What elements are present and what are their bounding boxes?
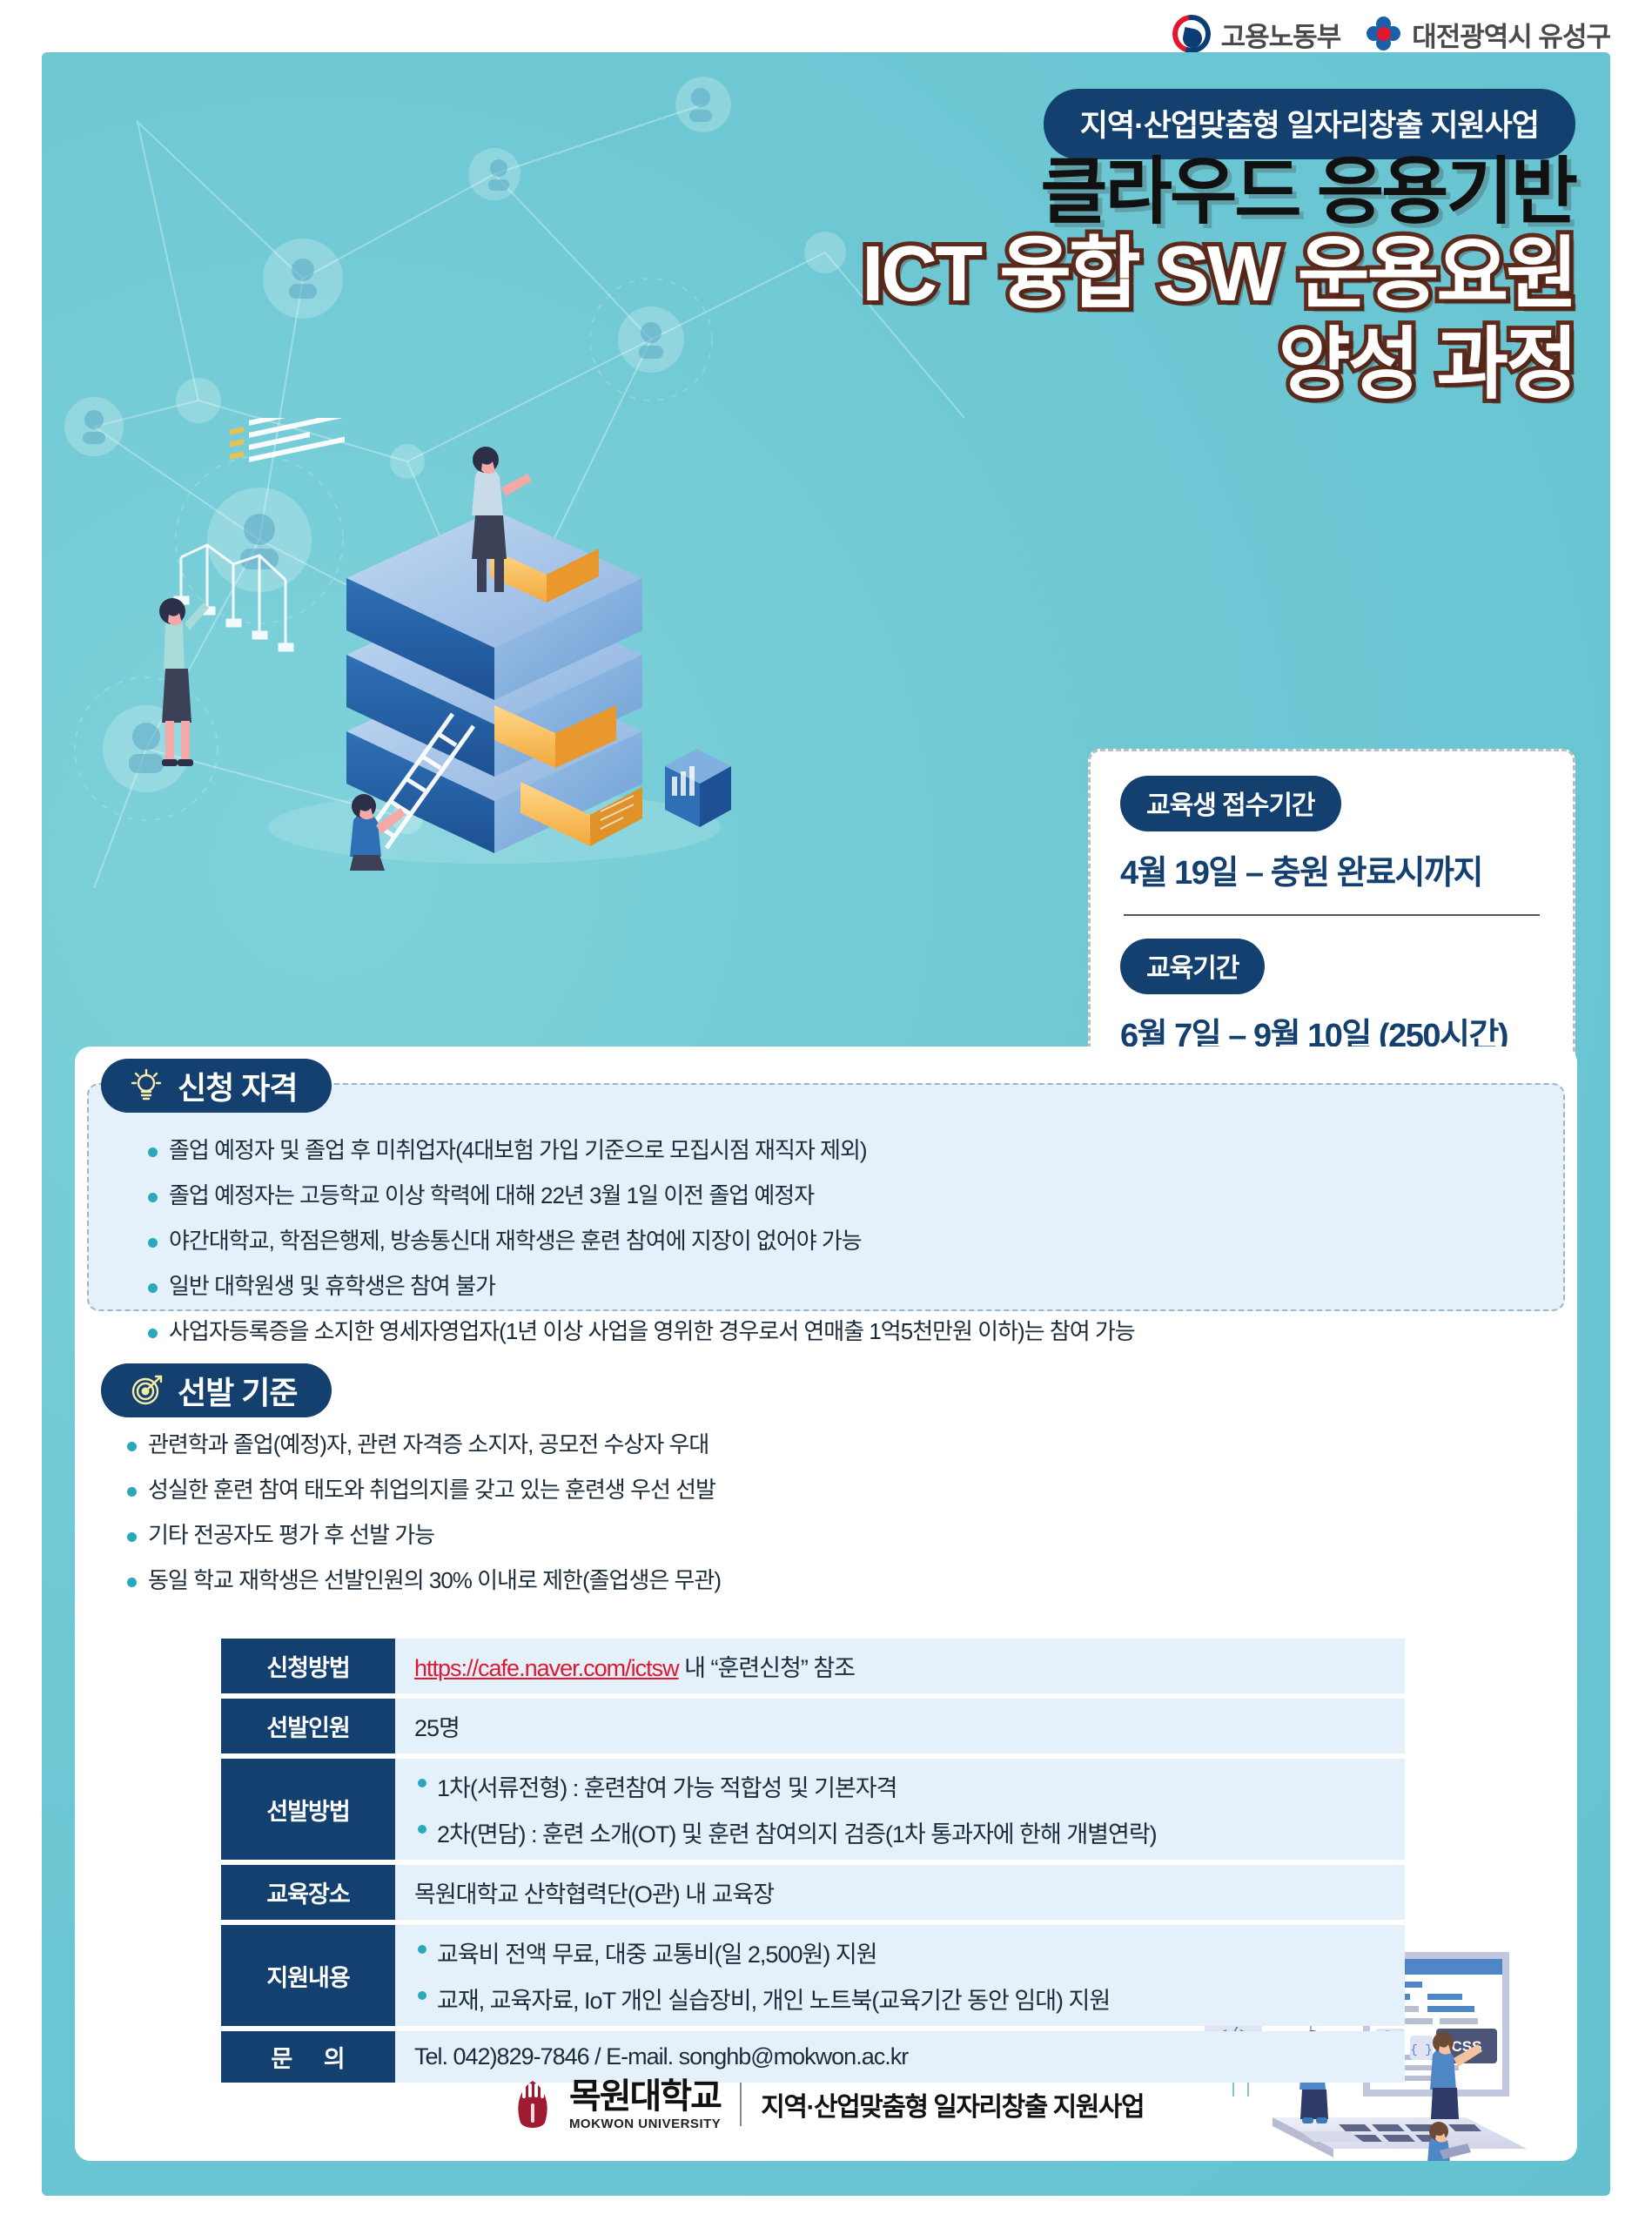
support-item-2: 교재, 교육자료, IoT 개인 실습장비, 개인 노트북(교육기간 동안 임대…: [414, 1982, 1405, 2016]
training-period-label: 교육기간: [1120, 939, 1265, 994]
selection-step-2: 2차(면담) : 훈련 소개(OT) 및 훈련 참여의지 검증(1차 통과자에 …: [414, 1815, 1405, 1849]
list-item: 동일 학교 재학생은 선발인원의 30% 이내로 제한(졸업생은 무관): [122, 1569, 721, 1592]
table-row: 교육장소 목원대학교 산학협력단(O관) 내 교육장: [221, 1865, 1405, 1920]
title-line-2: ICT 융합 SW 운용요원: [862, 235, 1575, 313]
list-item: 졸업 예정자 및 졸업 후 미취업자(4대보험 가입 기준으로 모집시점 재직자…: [143, 1139, 1563, 1161]
card-divider: [1124, 914, 1540, 916]
list-item: 야간대학교, 학점은행제, 방송통신대 재학생은 훈련 참여에 지장이 없어야 …: [143, 1229, 1563, 1252]
university-name-en: MOKWON UNIVERSITY: [569, 2117, 721, 2130]
title-line-1: 클라우드 응용기반: [862, 155, 1575, 228]
qualification-box: 졸업 예정자 및 졸업 후 미취업자(4대보험 가입 기준으로 모집시점 재직자…: [87, 1083, 1565, 1311]
title-line-3: 양성 과정: [862, 326, 1575, 404]
isometric-data-cube-illustration: [146, 418, 755, 871]
row-value-headcount: 25명: [395, 1699, 1405, 1753]
content-panel: CSS { }: [75, 1047, 1577, 2161]
row-label-venue: 교육장소: [221, 1865, 395, 1920]
apply-period-label: 교육생 접수기간: [1120, 776, 1341, 831]
footer: 목원대학교 MOKWON UNIVERSITY 지역·산업맞춤형 일자리창출 지…: [75, 2077, 1577, 2131]
list-item: 사업자등록증을 소지한 영세자영업자(1년 이상 사업을 영위한 경우로서 연매…: [143, 1320, 1563, 1343]
university-name-ko: 목원대학교: [569, 2079, 721, 2114]
list-item: 졸업 예정자는 고등학교 이상 학력에 대해 22년 3월 1일 이전 졸업 예…: [143, 1184, 1563, 1207]
city-logo: 대전광역시 유성구: [1367, 15, 1610, 54]
lightbulb-icon: [129, 1068, 164, 1103]
details-table: 신청방법 https://cafe.naver.com/ictsw 내 “훈련신…: [221, 1639, 1405, 2088]
table-row: 선발인원 25명: [221, 1699, 1405, 1753]
svg-text:{ }: { }: [1410, 2043, 1432, 2057]
list-item: 관련학과 졸업(예정)자, 관련 자격증 소지자, 공모전 수상자 우대: [122, 1433, 721, 1456]
university-name-block: 목원대학교 MOKWON UNIVERSITY: [569, 2079, 721, 2130]
row-label-contact: 문 의: [221, 2031, 395, 2083]
section-title-selection: 선발 기준: [178, 1368, 297, 1413]
selection-step-1: 1차(서류전형) : 훈련참여 가능 적합성 및 기본자격: [414, 1769, 1405, 1803]
row-label-selection-method: 선발방법: [221, 1759, 395, 1860]
section-title-qualification: 신청 자격: [178, 1063, 297, 1108]
application-link[interactable]: https://cafe.naver.com/ictsw: [414, 1655, 679, 1681]
footer-tagline: 지역·산업맞춤형 일자리창출 지원사업: [761, 2085, 1144, 2123]
list-item: 기타 전공자도 평가 후 선발 가능: [122, 1524, 721, 1546]
footer-divider: [740, 2083, 742, 2126]
row-value-apply-method: https://cafe.naver.com/ictsw 내 “훈련신청” 참조: [395, 1639, 1405, 1693]
mokwon-crest-icon: [508, 2077, 557, 2131]
section-header-qualification: 신청 자격: [101, 1059, 332, 1113]
table-row: 문 의 Tel. 042)829-7846 / E-mail. songhb@m…: [221, 2031, 1405, 2083]
qualification-list: 졸업 예정자 및 졸업 후 미취업자(4대보험 가입 기준으로 모집시점 재직자…: [89, 1085, 1563, 1343]
row-value-selection-method: 1차(서류전형) : 훈련참여 가능 적합성 및 기본자격 2차(면담) : 훈…: [395, 1759, 1405, 1860]
table-row: 지원내용 교육비 전액 무료, 대중 교통비(일 2,500원) 지원 교재, …: [221, 1925, 1405, 2026]
row-label-apply-method: 신청방법: [221, 1639, 395, 1693]
korea-gov-taegeuk-icon: [1172, 15, 1211, 53]
schedule-card: 교육생 접수기간 4월 19일 – 충원 완료시까지 교육기간 6월 7일 – …: [1088, 749, 1575, 1088]
poster-body: 지역·산업맞춤형 일자리창출 지원사업 클라우드 응용기반 ICT 융합 SW …: [42, 52, 1610, 2196]
row-value-support: 교육비 전액 무료, 대중 교통비(일 2,500원) 지원 교재, 교육자료,…: [395, 1925, 1405, 2026]
program-ribbon: 지역·산업맞춤형 일자리창출 지원사업: [1044, 89, 1575, 159]
university-logo: 목원대학교 MOKWON UNIVERSITY: [508, 2077, 721, 2131]
selection-list: 관련학과 졸업(예정)자, 관련 자격증 소지자, 공모전 수상자 우대 성실한…: [122, 1433, 721, 1614]
support-item-1: 교육비 전액 무료, 대중 교통비(일 2,500원) 지원: [414, 1935, 1405, 1969]
section-header-selection: 선발 기준: [101, 1363, 332, 1417]
hero-title: 클라우드 응용기반 ICT 융합 SW 운용요원 양성 과정: [862, 155, 1575, 404]
table-row: 선발방법 1차(서류전형) : 훈련참여 가능 적합성 및 기본자격 2차(면담…: [221, 1759, 1405, 1860]
row-value-venue: 목원대학교 산학협력단(O관) 내 교육장: [395, 1865, 1405, 1920]
row-label-headcount: 선발인원: [221, 1699, 395, 1753]
list-item: 성실한 훈련 참여 태도와 취업의지를 갖고 있는 훈련생 우선 선발: [122, 1478, 721, 1501]
apply-method-suffix: 내 “훈련신청” 참조: [679, 1655, 855, 1681]
city-logo-label: 대전광역시 유성구: [1412, 15, 1610, 54]
apply-period-value: 4월 19일 – 충원 완료시까지: [1120, 845, 1543, 893]
list-item: 일반 대학원생 및 휴학생은 참여 불가: [143, 1275, 1563, 1297]
gov-logo: 고용노동부: [1172, 15, 1341, 54]
row-value-contact: Tel. 042)829-7846 / E-mail. songhb@mokwo…: [395, 2031, 1405, 2083]
table-row: 신청방법 https://cafe.naver.com/ictsw 내 “훈련신…: [221, 1639, 1405, 1693]
target-icon: [129, 1373, 164, 1408]
row-label-support: 지원내용: [221, 1925, 395, 2026]
poster-root: 고용노동부 대전광역시 유성구: [0, 0, 1652, 2221]
gov-logo-label: 고용노동부: [1221, 15, 1341, 54]
yuseong-gu-emblem-icon: [1367, 17, 1401, 51]
